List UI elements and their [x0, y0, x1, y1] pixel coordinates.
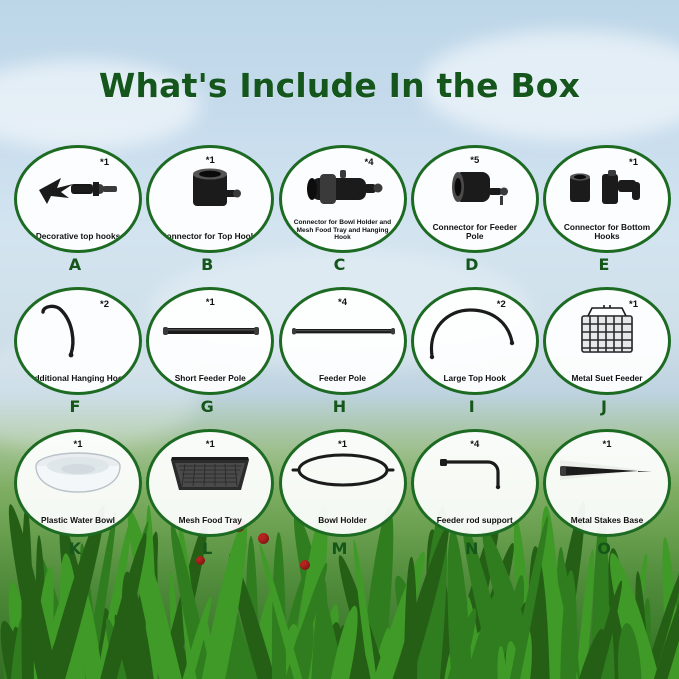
part-oval: *1Plastic Water Bowl — [14, 429, 142, 537]
part-oval: *5Connector for Feeder Pole — [411, 145, 539, 253]
part-cell-e: *1Connector for Bottom HooksE — [543, 145, 665, 274]
part-letter: J — [543, 397, 665, 416]
part-quantity: *1 — [338, 439, 347, 450]
part-caption: Bowl Holder — [291, 516, 395, 534]
part-caption: Metal Suet Feeder — [555, 374, 659, 392]
part-letter: G — [146, 397, 268, 416]
part-oval: *4Feeder Pole — [279, 287, 407, 395]
part-letter: B — [146, 255, 268, 274]
part-cell-j: *1Metal Suet FeederJ — [543, 287, 665, 416]
part-cell-d: *5Connector for Feeder PoleD — [411, 145, 533, 274]
part-cell-k: *1Plastic Water BowlK — [14, 429, 136, 558]
part-oval: *1Connector for Top Hooks — [146, 145, 274, 253]
part-oval: *2Large Top Hook — [411, 287, 539, 395]
parts-row: *1Decorative top hooksA *1Connector for … — [14, 145, 665, 274]
part-letter: I — [411, 397, 533, 416]
part-cell-o: *1Metal Stakes BaseO — [543, 429, 665, 558]
metal-stakes-base-icon — [546, 444, 668, 500]
page-title: What's Include In the Box — [0, 66, 679, 105]
part-quantity: *5 — [470, 155, 479, 166]
part-quantity: *1 — [603, 439, 612, 450]
part-oval: *1Decorative top hooks — [14, 145, 142, 253]
part-letter: M — [279, 539, 401, 558]
part-quantity: *4 — [338, 297, 347, 308]
part-oval: *1Mesh Food Tray — [146, 429, 274, 537]
part-cell-h: *4Feeder PoleH — [279, 287, 401, 416]
part-caption: Additional Hanging Hook — [26, 374, 130, 392]
part-cell-b: *1Connector for Top HooksB — [146, 145, 268, 274]
part-cell-c: *4Connector for Bowl Holder and Mesh Foo… — [279, 145, 401, 274]
part-caption: Connector for Bowl Holder and Mesh Food … — [291, 219, 395, 250]
part-letter: A — [14, 255, 136, 274]
bowl-holder-icon — [282, 444, 404, 500]
feeder-rod-support-icon — [414, 444, 536, 500]
part-cell-i: *2Large Top HookI — [411, 287, 533, 416]
part-oval: *4Connector for Bowl Holder and Mesh Foo… — [279, 145, 407, 253]
mesh-food-tray-icon — [149, 444, 271, 500]
decorative-top-hook-icon — [17, 160, 139, 216]
part-letter: L — [146, 539, 268, 558]
part-caption: Connector for Feeder Pole — [423, 223, 527, 250]
connector-bottom-hooks-icon — [546, 160, 668, 216]
part-letter: D — [411, 255, 533, 274]
part-letter: H — [279, 397, 401, 416]
part-oval: *1Metal Stakes Base — [543, 429, 671, 537]
connector-top-hooks-icon — [149, 160, 271, 216]
part-letter: K — [14, 539, 136, 558]
part-quantity: *4 — [365, 157, 374, 168]
part-quantity: *1 — [206, 155, 215, 166]
connector-bowl-holder-icon — [282, 160, 404, 216]
part-cell-f: *2Additional Hanging HookF — [14, 287, 136, 416]
plastic-water-bowl-icon — [17, 444, 139, 500]
part-quantity: *1 — [74, 439, 83, 450]
product-infographic: What's Include In the Box *1Decorative t… — [0, 0, 679, 679]
metal-suet-feeder-icon — [546, 302, 668, 358]
part-caption: Metal Stakes Base — [555, 516, 659, 534]
part-quantity: *2 — [100, 299, 109, 310]
part-quantity: *4 — [470, 439, 479, 450]
part-cell-n: *4Feeder rod supportN — [411, 429, 533, 558]
part-caption: Plastic Water Bowl — [26, 516, 130, 534]
additional-hanging-hook-icon — [17, 302, 139, 358]
part-caption: Feeder Pole — [291, 374, 395, 392]
part-oval: *1Short Feeder Pole — [146, 287, 274, 395]
part-quantity: *1 — [206, 439, 215, 450]
parts-row: *1Plastic Water BowlK *1Mesh Food TrayL … — [14, 429, 665, 558]
part-caption: Connector for Top Hooks — [158, 232, 262, 250]
part-caption: Short Feeder Pole — [158, 374, 262, 392]
part-oval: *1Connector for Bottom Hooks — [543, 145, 671, 253]
part-caption: Large Top Hook — [423, 374, 527, 392]
part-quantity: *1 — [206, 297, 215, 308]
short-feeder-pole-icon — [149, 302, 271, 358]
part-letter: N — [411, 539, 533, 558]
connector-feeder-pole-icon — [414, 160, 536, 216]
part-quantity: *2 — [497, 299, 506, 310]
part-oval: *1Bowl Holder — [279, 429, 407, 537]
part-letter: F — [14, 397, 136, 416]
part-cell-g: *1Short Feeder PoleG — [146, 287, 268, 416]
part-cell-m: *1Bowl HolderM — [279, 429, 401, 558]
part-oval: *1Metal Suet Feeder — [543, 287, 671, 395]
parts-row: *2Additional Hanging HookF *1Short Feede… — [14, 287, 665, 416]
part-cell-a: *1Decorative top hooksA — [14, 145, 136, 274]
part-caption: Decorative top hooks — [26, 232, 130, 250]
part-letter: O — [543, 539, 665, 558]
part-quantity: *1 — [629, 157, 638, 168]
feeder-pole-icon — [282, 302, 404, 358]
part-letter: E — [543, 255, 665, 274]
part-caption: Mesh Food Tray — [158, 516, 262, 534]
part-oval: *2Additional Hanging Hook — [14, 287, 142, 395]
part-letter: C — [279, 255, 401, 274]
part-quantity: *1 — [100, 157, 109, 168]
large-top-hook-icon — [414, 302, 536, 358]
part-caption: Feeder rod support — [423, 516, 527, 534]
parts-grid: *1Decorative top hooksA *1Connector for … — [14, 145, 665, 571]
part-caption: Connector for Bottom Hooks — [555, 223, 659, 250]
part-oval: *4Feeder rod support — [411, 429, 539, 537]
part-quantity: *1 — [629, 299, 638, 310]
part-cell-l: *1Mesh Food TrayL — [146, 429, 268, 558]
